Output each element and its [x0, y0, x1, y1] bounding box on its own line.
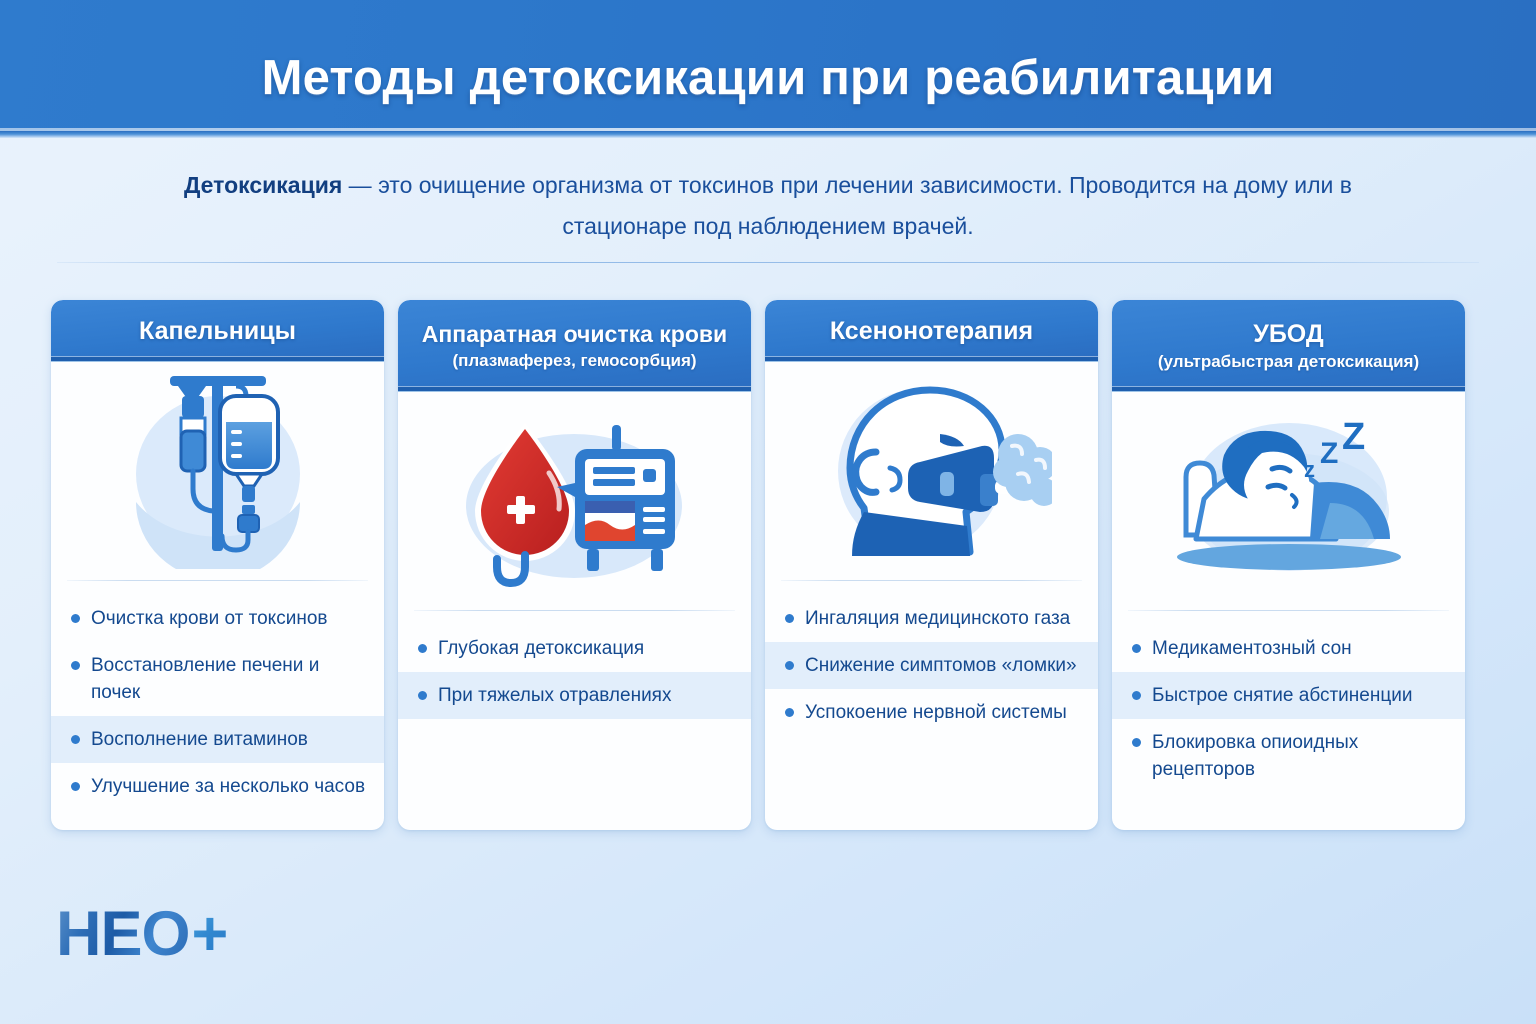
bullet-dot-icon [71, 782, 80, 791]
bullet-text: Ингаляция медицинското газа [805, 605, 1070, 632]
card-title: УБОД [1122, 321, 1455, 349]
svg-text:Z: Z [1342, 416, 1365, 458]
bullet-dot-icon [785, 708, 794, 717]
list-item: Ингаляция медицинското газа [765, 595, 1098, 642]
benefit-list: Глубокая детоксикация При тяжелых отравл… [398, 611, 751, 830]
logo-plus-icon: + [192, 903, 229, 966]
bullet-dot-icon [1132, 644, 1141, 653]
list-item: Блокировка опиоидных рецепторов [1112, 719, 1465, 793]
benefit-list: Ингаляция медицинското газа Снижение сим… [765, 581, 1098, 830]
list-item: Снижение симптомов «ломки» [765, 642, 1098, 689]
card-header-ubod: УБОД (ультрабыстрая детоксикация) [1112, 300, 1465, 392]
blood-purification-icon [398, 392, 751, 610]
bullet-text: Блокировка опиоидных рецепторов [1152, 729, 1447, 783]
method-card-xenon[interactable]: Ксенонотерапия [765, 300, 1098, 830]
card-header-blood-purification: Аппаратная очистка крови (плазмаферез, г… [398, 300, 751, 392]
brand-logo: НЕО + [56, 903, 228, 966]
list-item: Глубокая детоксикация [398, 625, 751, 672]
benefit-list: Очистка крови от токсинов Восстановление… [51, 581, 384, 830]
list-item: При тяжелых отравлениях [398, 672, 751, 719]
bullet-text: Успокоение нервной системы [805, 699, 1067, 726]
header-underline [0, 131, 1536, 138]
svg-text:Z: Z [1320, 437, 1338, 470]
bullet-text: Быстрое снятие абстиненции [1152, 682, 1412, 709]
bullet-text: Восстановление печени и почек [91, 652, 366, 706]
card-title: Капельницы [61, 318, 374, 346]
card-title: Аппаратная очистка крови [408, 322, 741, 347]
list-item: Успокоение нервной системы [765, 689, 1098, 736]
bullet-text: Глубокая детоксикация [438, 635, 644, 662]
svg-text:z: z [1304, 457, 1315, 482]
list-item: Медикаментозный сон [1112, 625, 1465, 672]
bullet-text: Медикаментозный сон [1152, 635, 1352, 662]
bullet-dot-icon [71, 661, 80, 670]
subtitle-lead-term: Детоксикация [184, 172, 342, 198]
method-card-blood-purification[interactable]: Аппаратная очистка крови (плазмаферез, г… [398, 300, 751, 830]
method-card-ubod[interactable]: УБОД (ультрабыстрая детоксикация) z Z [1112, 300, 1465, 830]
list-item: Быстрое снятие абстиненции [1112, 672, 1465, 719]
bullet-text: При тяжелых отравлениях [438, 682, 671, 709]
section-divider [57, 262, 1479, 263]
bullet-dot-icon [71, 735, 80, 744]
card-title: Ксенонотерапия [775, 318, 1088, 346]
card-header-xenon: Ксенонотерапия [765, 300, 1098, 362]
list-item: Очистка крови от токсинов [51, 595, 384, 642]
card-subtitle: (ультрабыстрая детоксикация) [1122, 352, 1455, 372]
bullet-dot-icon [785, 614, 794, 623]
bullet-text: Улучшение за несколько часов [91, 773, 365, 800]
bullet-text: Очистка крови от токсинов [91, 605, 327, 632]
bullet-dot-icon [1132, 738, 1141, 747]
oxygen-mask-icon [765, 362, 1098, 580]
bullet-text: Снижение симптомов «ломки» [805, 652, 1077, 679]
method-card-drip[interactable]: Капельницы [51, 300, 384, 830]
subtitle-rest: — это очищение организма от токсинов при… [342, 172, 1352, 239]
method-cards-row: Капельницы [51, 300, 1485, 830]
list-item: Восстановление печени и почек [51, 642, 384, 716]
iv-drip-icon [51, 362, 384, 580]
bullet-dot-icon [785, 661, 794, 670]
card-subtitle: (плазмаферез, гемосорбция) [408, 351, 741, 371]
bullet-dot-icon [418, 691, 427, 700]
list-item: Восполнение витаминов [51, 716, 384, 763]
bullet-dot-icon [418, 644, 427, 653]
bullet-dot-icon [1132, 691, 1141, 700]
subtitle-paragraph: Детоксикация — это очищение организма от… [168, 165, 1368, 247]
sleeping-patient-icon: z Z Z [1112, 392, 1465, 610]
card-header-drip: Капельницы [51, 300, 384, 362]
logo-wordmark: НЕО [56, 903, 190, 966]
benefit-list: Медикаментозный сон Быстрое снятие абсти… [1112, 611, 1465, 830]
bullet-text: Восполнение витаминов [91, 726, 308, 753]
page-title: Методы детоксикации при реабилитации [0, 50, 1536, 106]
list-item: Улучшение за несколько часов [51, 763, 384, 810]
bullet-dot-icon [71, 614, 80, 623]
